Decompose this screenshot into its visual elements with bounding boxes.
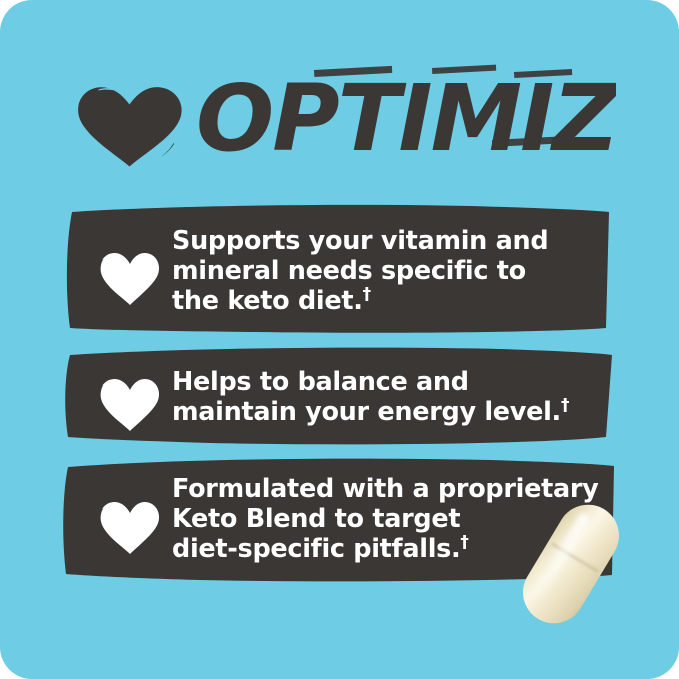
heart-brush-icon [98,499,162,555]
benefit-line-3: the keto diet. [172,286,363,316]
footnote-dagger: † [561,396,569,416]
footnote-dagger: † [363,285,371,305]
benefit-line-1: Formulated with a proprietary [172,474,598,504]
page-title: OPTIMIZE [196,62,616,177]
benefit-line-2: mineral needs specific to [172,256,526,286]
page-title-text: OPTIMIZE [196,65,616,172]
benefit-line-2: Keto Blend to target [172,504,460,534]
benefit-text-2: Helps to balance and maintain your energ… [172,367,569,427]
benefit-line-1: Helps to balance and [172,367,469,397]
benefit-text-1: Supports your vitamin and mineral needs … [172,226,548,316]
benefit-item-2: Helps to balance and maintain your energ… [0,345,679,450]
heart-brush-icon [74,84,186,168]
product-benefits-panel: OPTIMIZE Supports your vitamin and m [0,0,679,679]
benefit-item-1: Supports your vitamin and mineral needs … [0,200,679,340]
benefit-line-2: maintain your energy level. [172,397,561,427]
heart-brush-icon [98,376,162,432]
header: OPTIMIZE [0,62,679,177]
benefit-text-3: Formulated with a proprietary Keto Blend… [172,474,598,564]
benefit-line-3: diet-specific pitfalls. [172,534,460,564]
benefit-line-1: Supports your vitamin and [172,226,548,256]
footnote-dagger: † [460,533,468,553]
heart-brush-icon [98,250,162,306]
